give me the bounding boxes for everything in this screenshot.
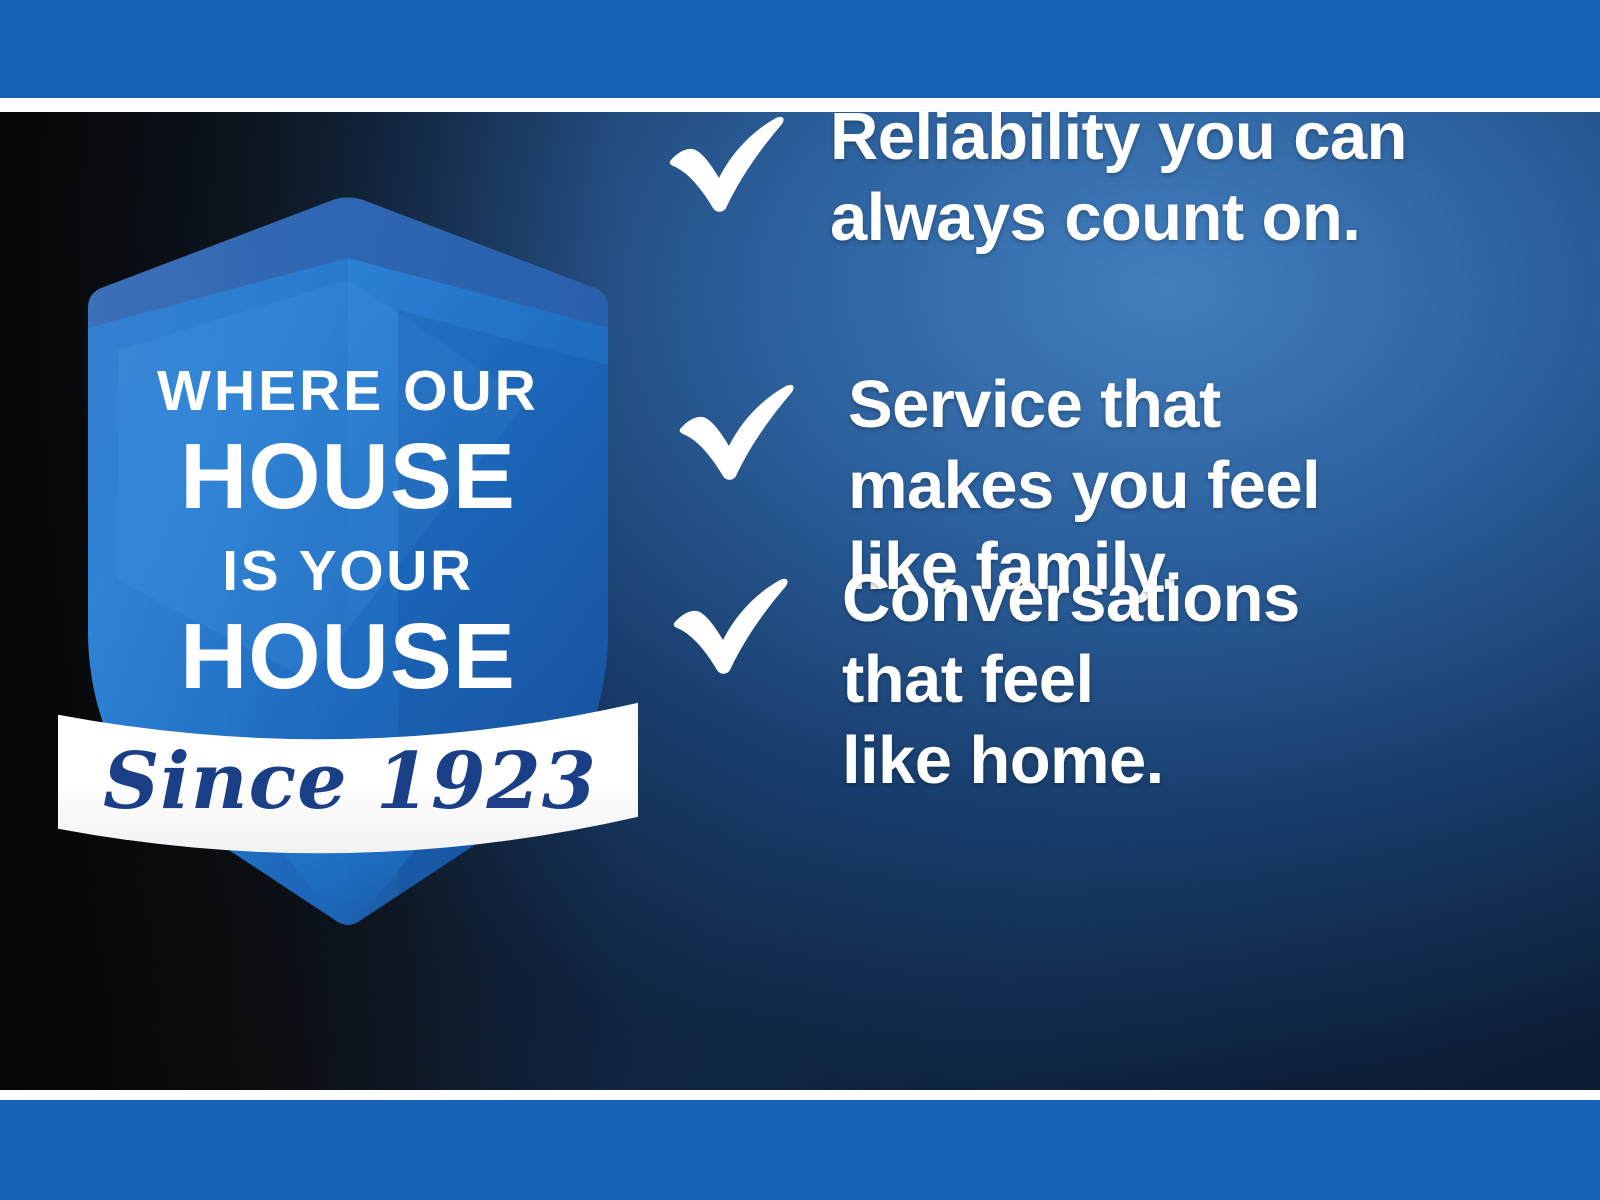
- bottom-brand-bar: [0, 1100, 1600, 1200]
- benefit-item: Reliability you can always count on.: [668, 96, 1407, 258]
- checkmark-icon: [668, 116, 786, 212]
- brand-shield-logo: WHERE OUR HOUSE IS YOUR HOUSE Since 1923: [58, 160, 638, 950]
- benefit-line: like home.: [842, 720, 1300, 801]
- since-year-text: Since 1923: [103, 736, 597, 827]
- benefit-text: Reliability you can always count on.: [830, 96, 1407, 258]
- shield-line-2: HOUSE: [180, 424, 516, 528]
- benefit-line: Conversations: [842, 558, 1300, 639]
- top-brand-bar: [0, 0, 1600, 98]
- promo-graphic: WHERE OUR HOUSE IS YOUR HOUSE Since 1923…: [0, 0, 1600, 1200]
- benefit-line: that feel: [842, 639, 1300, 720]
- shield-line-1: WHERE OUR: [157, 359, 539, 423]
- checkmark-icon: [678, 384, 796, 480]
- checkmark-icon: [672, 578, 790, 674]
- benefit-line: always count on.: [830, 177, 1407, 258]
- shield-line-4: HOUSE: [180, 604, 516, 708]
- benefit-text: Conversations that feel like home.: [842, 558, 1300, 801]
- benefit-item: Conversations that feel like home.: [672, 558, 1300, 801]
- benefit-line: Service that: [848, 364, 1320, 445]
- shield-line-3: IS YOUR: [222, 539, 474, 603]
- benefit-line: makes you feel: [848, 445, 1320, 526]
- benefit-line: Reliability you can: [830, 96, 1407, 177]
